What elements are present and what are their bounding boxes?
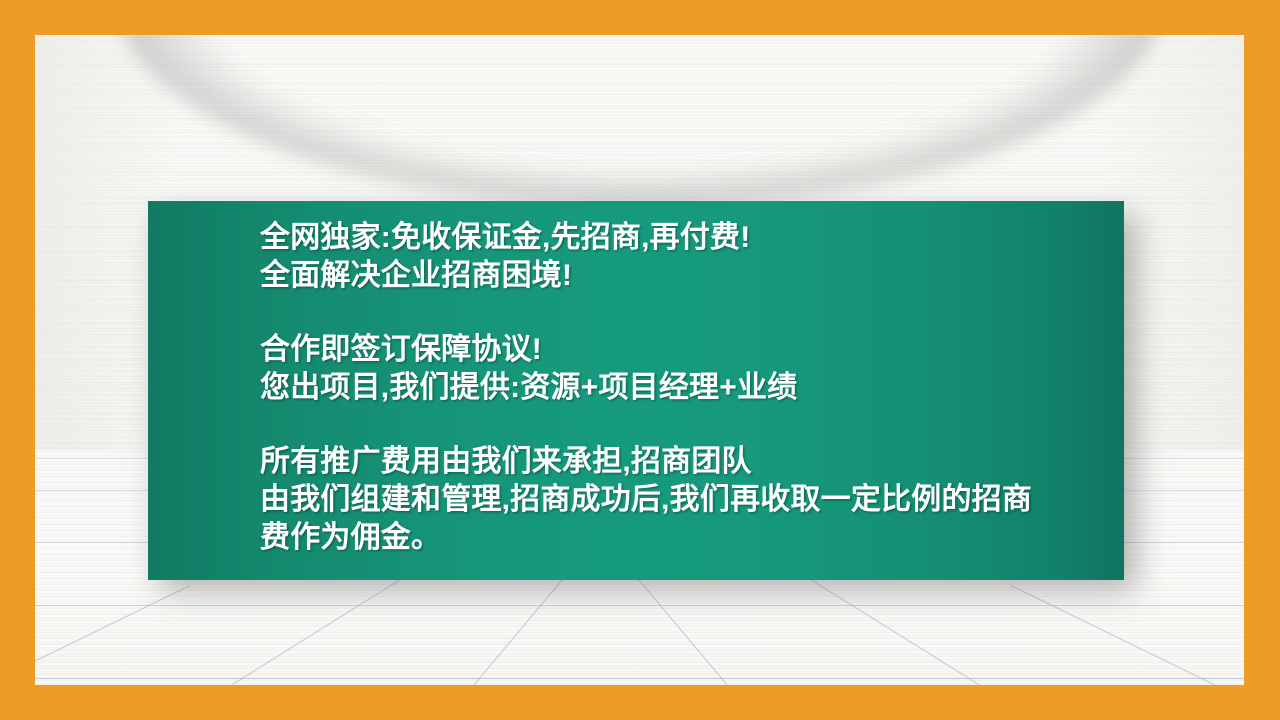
floor-gridline-horizontal — [35, 678, 1244, 679]
offer-line-2: 您出项目,我们提供:资源+项目经理+业绩 — [260, 369, 1124, 407]
headline-line-1: 全网独家:免收保证金,先招商,再付费! — [260, 219, 1124, 257]
terms-line-2: 由我们组建和管理,招商成功后,我们再收取一定比例的招商 — [260, 481, 1124, 519]
green-content-panel: 全网独家:免收保证金,先招商,再付费! 全面解决企业招商困境! 合作即签订保障协… — [148, 201, 1124, 580]
paragraph-terms: 所有推广费用由我们来承担,招商团队 由我们组建和管理,招商成功后,我们再收取一定… — [260, 443, 1124, 557]
headline-line-2: 全面解决企业招商困境! — [260, 257, 1124, 295]
terms-line-1: 所有推广费用由我们来承担,招商团队 — [260, 443, 1124, 481]
terms-line-3: 费作为佣金。 — [260, 519, 1124, 557]
offer-line-1: 合作即签订保障协议! — [260, 331, 1124, 369]
floor-gridline-horizontal — [35, 605, 1244, 606]
paragraph-headline: 全网独家:免收保证金,先招商,再付费! 全面解决企业招商困境! — [260, 219, 1124, 295]
slide-canvas: 全网独家:免收保证金,先招商,再付费! 全面解决企业招商困境! 合作即签订保障协… — [0, 0, 1280, 720]
paragraph-offer: 合作即签订保障协议! 您出项目,我们提供:资源+项目经理+业绩 — [260, 331, 1124, 407]
